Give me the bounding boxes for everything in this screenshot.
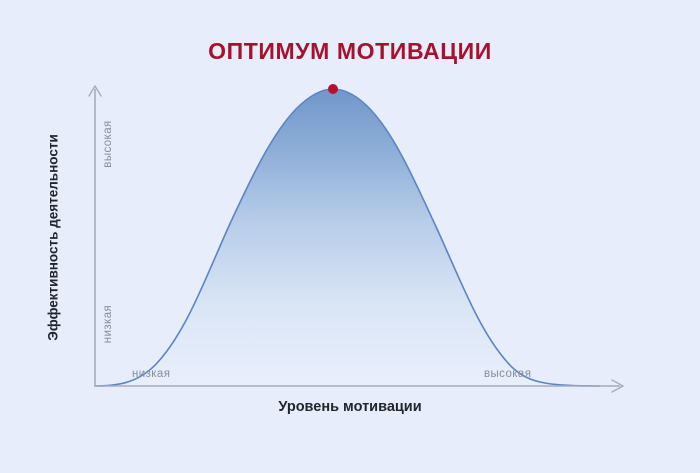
y-axis-tick-low: низкая bbox=[102, 284, 114, 364]
y-axis-tick-high: высокая bbox=[102, 104, 114, 184]
x-axis-tick-low: низкая bbox=[132, 368, 170, 380]
dot-marker-icon bbox=[328, 84, 338, 94]
x-axis-tick-high: высокая bbox=[484, 368, 531, 380]
chart-canvas: ОПТИМУМ МОТИВАЦИИ bbox=[0, 0, 700, 473]
x-axis-label: Уровень мотивации bbox=[95, 399, 605, 415]
curve-area-fill bbox=[95, 89, 600, 386]
y-axis-label: Эффективность деятельности bbox=[46, 123, 61, 353]
